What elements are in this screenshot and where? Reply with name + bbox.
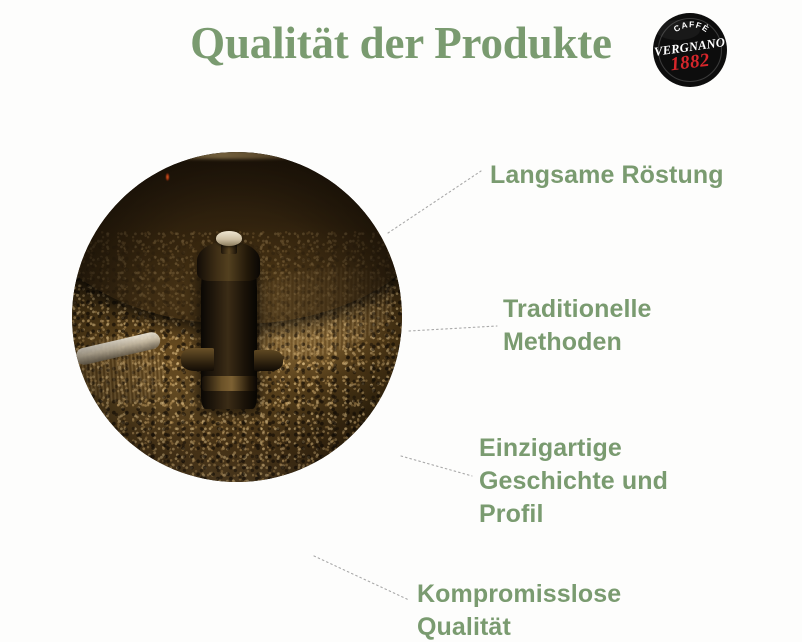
photo-agitator-arm-left [181, 348, 214, 371]
feature-label-kompromisslose-qualitaet: Kompromisslose Qualität [417, 578, 621, 642]
header: Qualität der Produkte CAFFÈ VERGNANO [0, 0, 802, 105]
photo-drum-rim-highlight [72, 152, 401, 159]
photo-agitator-arm-right [254, 350, 284, 371]
connector-4 [314, 556, 409, 600]
feature-label-langsame-roestung: Langsame Röstung [490, 159, 724, 192]
photo-agitator-band [202, 376, 256, 391]
brand-logo-badge: CAFFÈ VERGNANO 1882 [650, 10, 730, 90]
feature-label-einzigartige-geschichte-und-profil: Einzigartige Geschichte und Profil [479, 432, 668, 531]
coffee-roaster-photo [72, 152, 402, 482]
caffe-vergnano-1882-logo-icon: CAFFÈ VERGNANO 1882 [650, 10, 730, 90]
photo-inner [72, 152, 402, 482]
feature-label-traditionelle-methoden: Traditionelle Methoden [503, 293, 652, 359]
connector-3 [401, 456, 472, 476]
photo-agitator-cap [216, 231, 242, 246]
connector-2 [409, 326, 497, 331]
infographic-page: Qualität der Produkte CAFFÈ VERGNANO [0, 0, 802, 642]
